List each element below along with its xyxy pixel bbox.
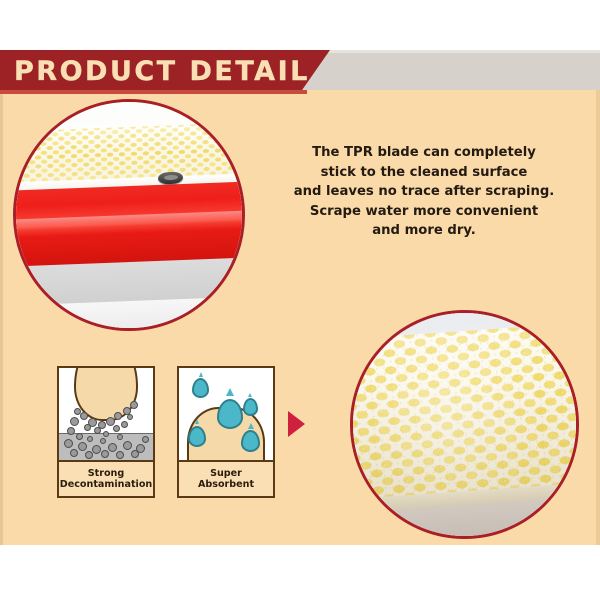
dirt-particle (85, 451, 93, 459)
dirt-particle (130, 401, 138, 409)
dirt-particle (84, 424, 91, 431)
dirt-particle (100, 438, 106, 444)
description-line-1: The TPR blade can completely (286, 143, 562, 163)
dirt-particle (108, 443, 117, 452)
dirt-particle (67, 427, 75, 435)
description-line-5: and more dry. (286, 221, 562, 241)
mesh-sponge-photo-art (353, 313, 576, 536)
water-droplet (192, 378, 209, 398)
dirt-particle (106, 417, 115, 426)
water-droplet (188, 426, 206, 447)
feature-card-absorbent: Super Absorbent (177, 366, 275, 498)
dirt-particle (121, 421, 128, 428)
dirt-particle (70, 417, 79, 426)
sponge-dirt-pickup-icon (59, 368, 153, 462)
banner-underline (0, 90, 307, 94)
water-droplet (217, 399, 243, 429)
dirt-particle (76, 433, 83, 440)
feature-label-line-1: Strong (88, 468, 125, 480)
mesh-sponge-photo (350, 310, 579, 539)
dirt-particle (87, 436, 93, 442)
water-droplets-icon (179, 368, 273, 462)
tpr-blade-photo-art (16, 102, 242, 328)
description-line-4: Scrape water more convenient (286, 202, 562, 222)
dirt-particle (127, 414, 133, 420)
description-line-3: and leaves no trace after scraping. (286, 182, 562, 202)
product-detail-page: PRODUCT DETAIL The TPR blade can complet… (0, 0, 600, 600)
description-line-2: stick to the cleaned surface (286, 163, 562, 183)
dirt-particle (78, 442, 87, 451)
dirt-particle (142, 436, 149, 443)
panel-right-shadow (596, 50, 600, 545)
feature-label-line-1: Super (210, 468, 242, 480)
feature-label-decontamination: Strong Decontamination (59, 460, 153, 496)
panel-left-shadow (0, 50, 3, 545)
water-droplet (241, 430, 260, 452)
dirt-particle (92, 445, 101, 454)
dirt-particle (94, 427, 101, 434)
right-arrow-icon (288, 411, 305, 437)
description-text: The TPR blade can completely stick to th… (286, 143, 562, 241)
dirt-particle (114, 412, 122, 420)
feature-label-absorbent: Super Absorbent (179, 460, 273, 496)
dirt-particle (113, 425, 120, 432)
tpr-blade-photo (13, 99, 245, 331)
page-title: PRODUCT DETAIL (14, 54, 310, 90)
water-droplet (243, 398, 258, 416)
feature-label-line-2: Absorbent (198, 479, 254, 491)
feature-card-decontamination: Strong Decontamination (57, 366, 155, 498)
dirt-particle (80, 412, 88, 420)
mesh-shading-overlay (353, 313, 576, 536)
feature-label-line-2: Decontamination (60, 479, 153, 491)
